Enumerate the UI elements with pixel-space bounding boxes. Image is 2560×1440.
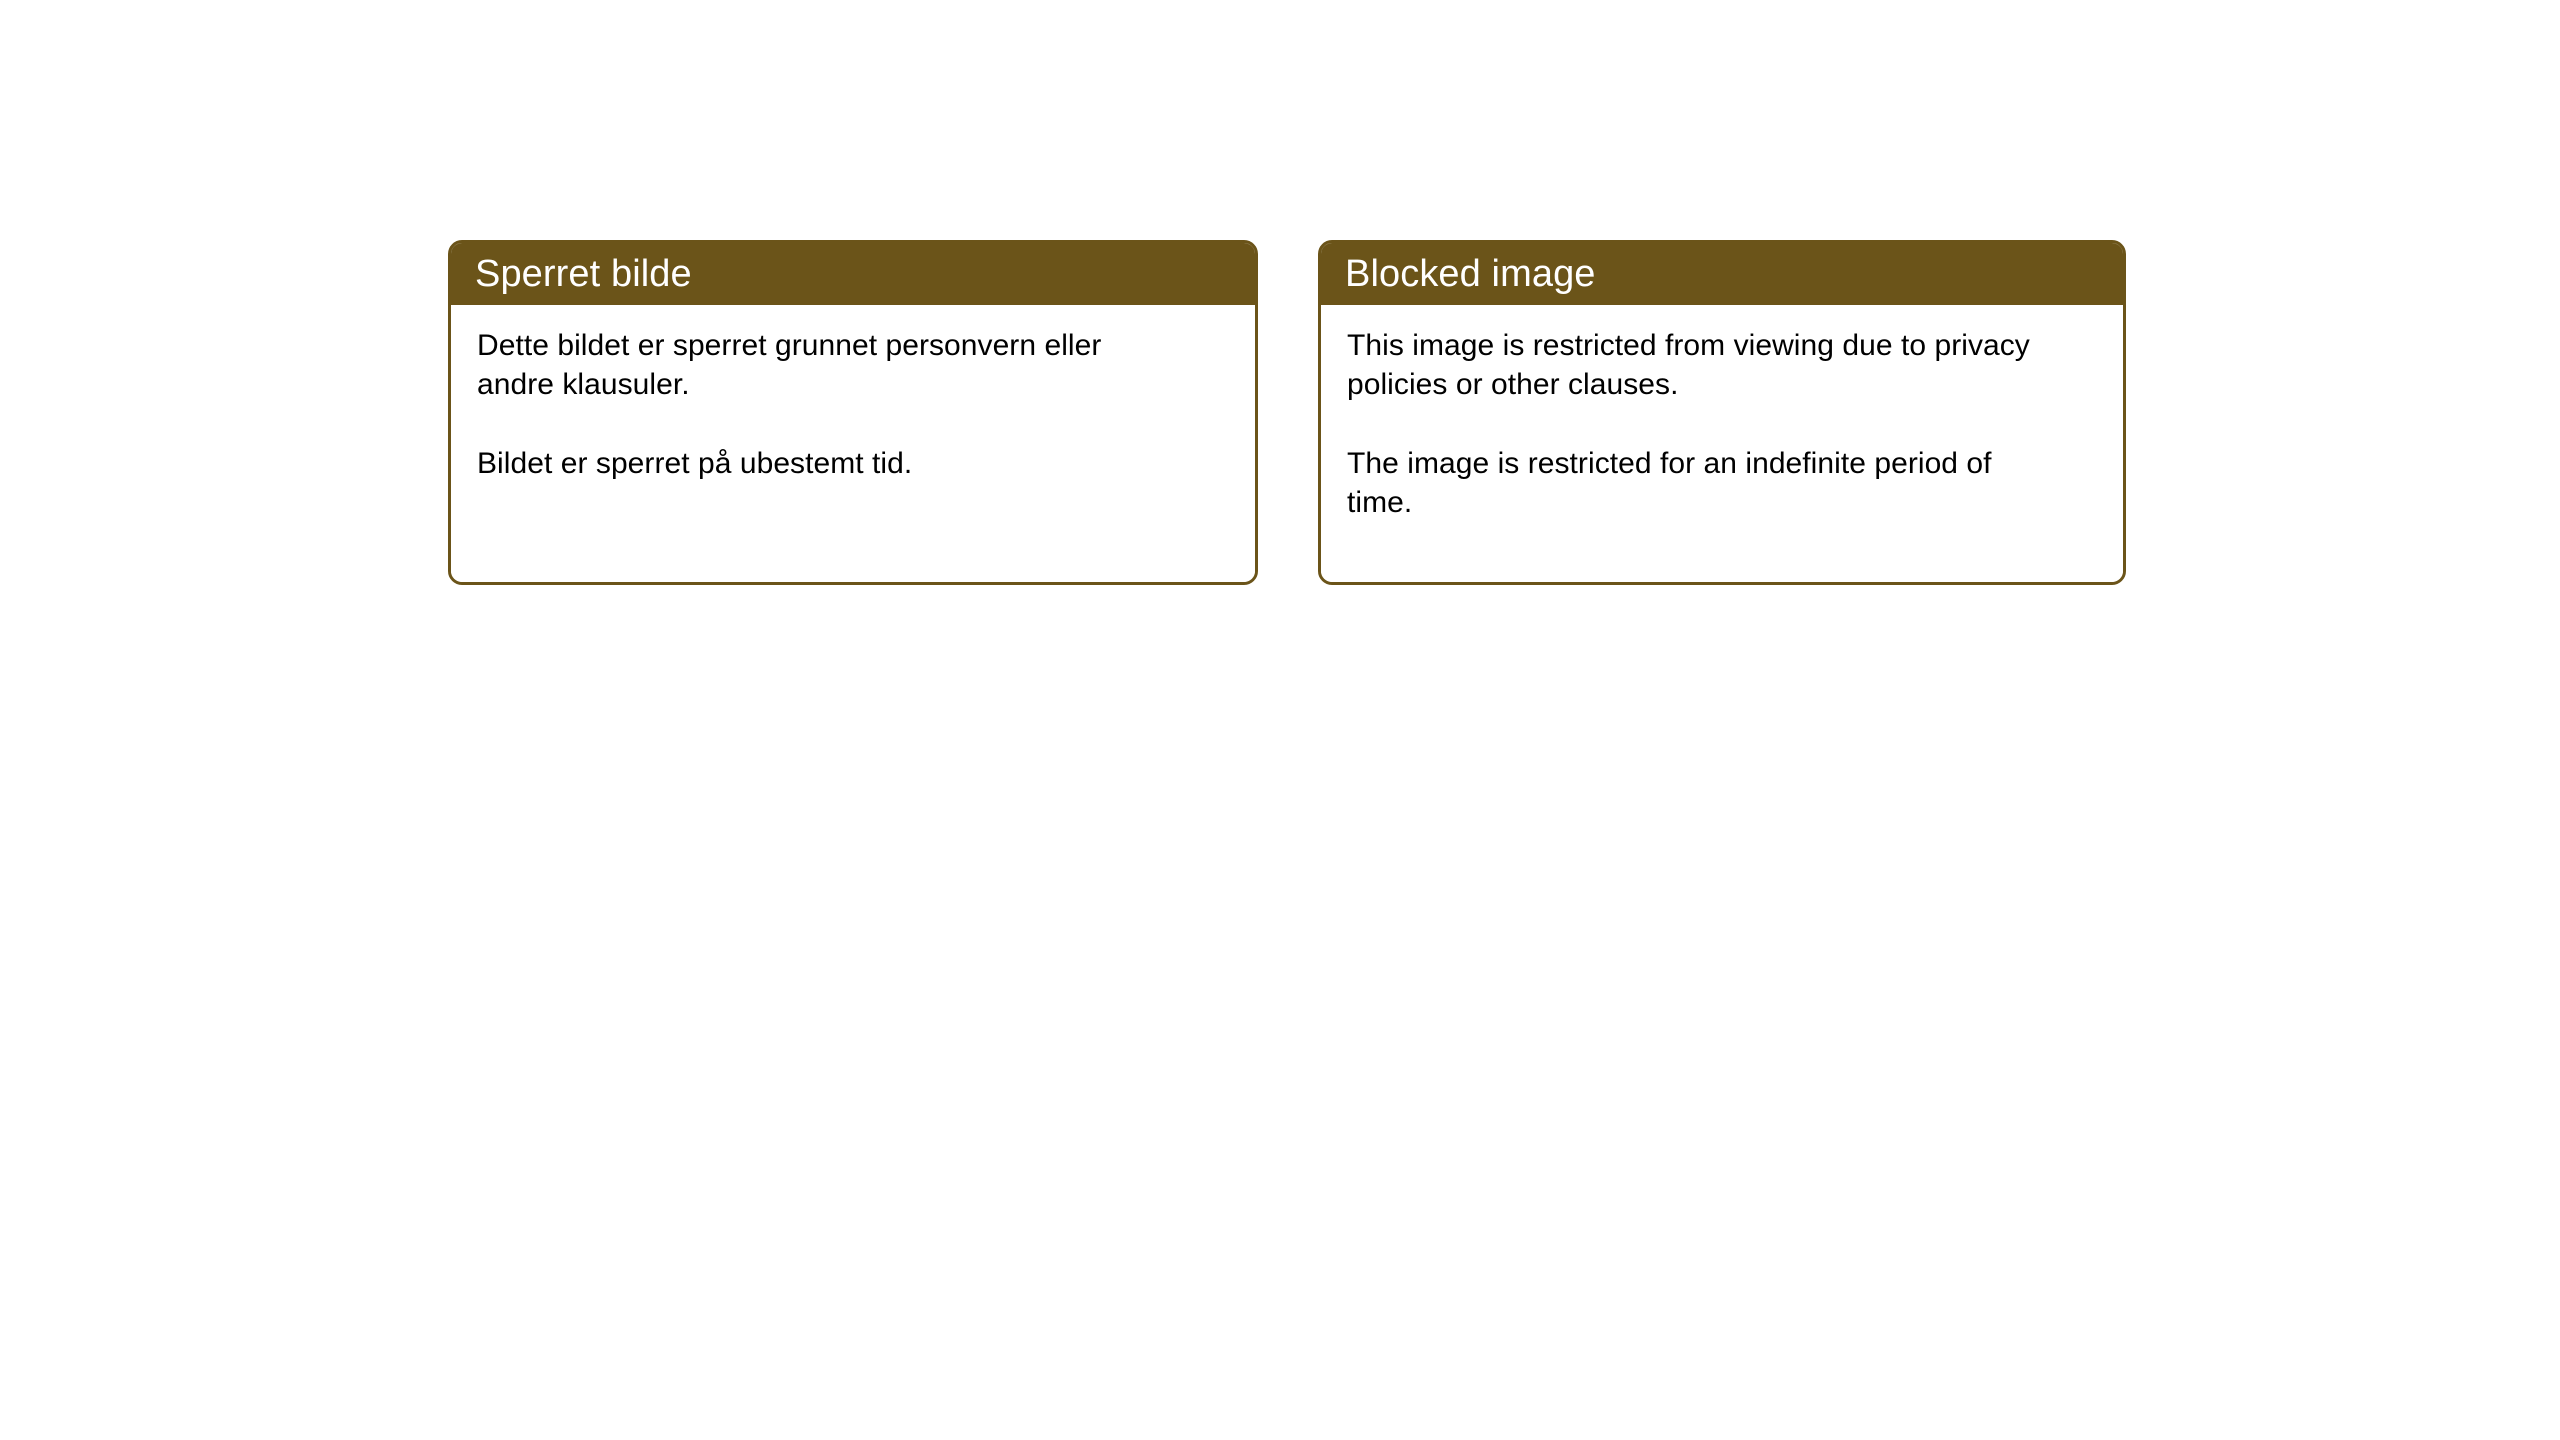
page-canvas: Sperret bilde Dette bildet er sperret gr… — [0, 0, 2560, 1440]
card-paragraph-secondary-norwegian: Bildet er sperret på ubestemt tid. — [477, 445, 1177, 484]
card-body-norwegian: Dette bildet er sperret grunnet personve… — [451, 305, 1255, 582]
card-title-norwegian: Sperret bilde — [475, 255, 692, 293]
card-body-english: This image is restricted from viewing du… — [1321, 305, 2123, 582]
card-header-norwegian: Sperret bilde — [451, 243, 1255, 305]
card-paragraph-primary-norwegian: Dette bildet er sperret grunnet personve… — [477, 327, 1177, 404]
card-paragraph-primary-english: This image is restricted from viewing du… — [1347, 327, 2057, 404]
blocked-image-notice-group: Sperret bilde Dette bildet er sperret gr… — [448, 240, 2126, 585]
card-header-english: Blocked image — [1321, 243, 2123, 305]
card-title-english: Blocked image — [1345, 255, 1596, 293]
blocked-image-card-norwegian: Sperret bilde Dette bildet er sperret gr… — [448, 240, 1258, 585]
card-paragraph-secondary-english: The image is restricted for an indefinit… — [1347, 445, 2057, 522]
blocked-image-card-english: Blocked image This image is restricted f… — [1318, 240, 2126, 585]
